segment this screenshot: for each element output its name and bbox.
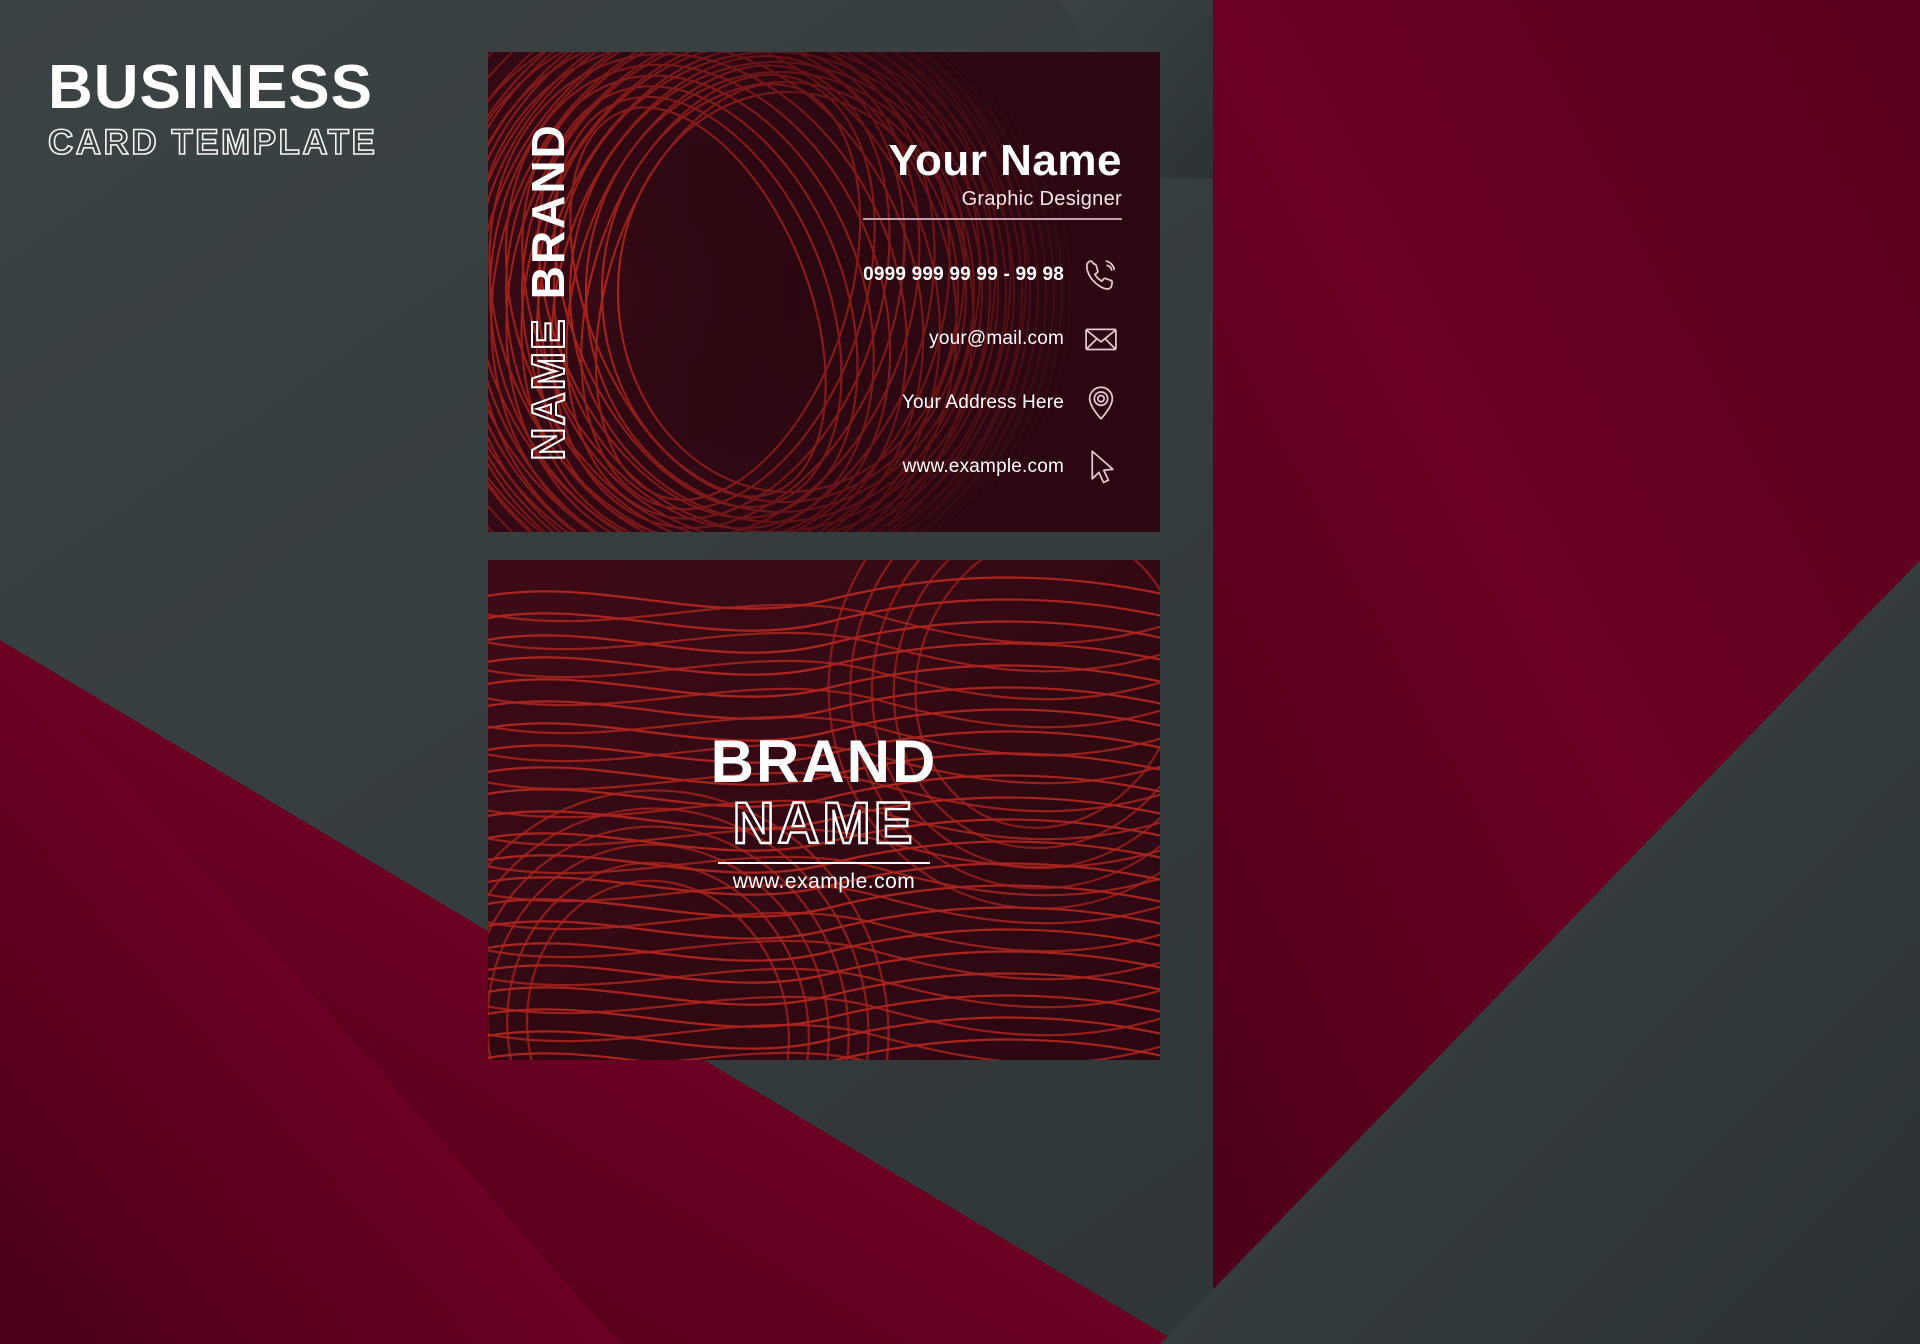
back-logo-block: BRAND NAME www.example.com [488,732,1160,894]
vertical-brand-name-hollow: NAME [521,317,575,460]
contact-row-email[interactable]: your@mail.com [863,318,1122,360]
headline-primary: BUSINESS [48,58,377,119]
contact-name: Your Name [863,138,1122,184]
headline-secondary: CARD TEMPLATE [48,123,377,162]
back-divider-rule [718,862,930,864]
back-brand-hollow: NAME [488,794,1160,855]
contact-phone-text: 0999 999 99 99 - 99 98 [863,264,1064,286]
contact-website-text: www.example.com [903,456,1064,478]
cursor-arrow-icon [1080,446,1122,488]
vertical-brand-name-solid: BRAND [521,123,575,299]
card-front-info: Your Name Graphic Designer 0999 999 99 9… [863,138,1122,488]
contact-row-address[interactable]: Your Address Here [863,382,1122,424]
location-pin-icon [1080,382,1122,424]
business-card-front[interactable]: NAME BRAND Your Name Graphic Designer 09… [488,52,1160,532]
envelope-icon [1080,318,1122,360]
vertical-brand-strip: NAME BRAND [488,52,608,532]
business-card-back[interactable]: BRAND NAME www.example.com [488,560,1160,1060]
contact-role: Graphic Designer [863,188,1122,211]
contact-row-phone[interactable]: 0999 999 99 99 - 99 98 [863,254,1122,296]
contact-row-website[interactable]: www.example.com [863,446,1122,488]
page-title: BUSINESS CARD TEMPLATE [48,58,377,162]
contact-list: 0999 999 99 99 - 99 98 your@mail.com [863,254,1122,488]
phone-icon [1080,254,1122,296]
contact-address-text: Your Address Here [902,392,1064,414]
back-website: www.example.com [488,870,1160,894]
contact-email-text: your@mail.com [929,328,1064,350]
divider-rule [863,218,1122,220]
back-brand-solid: BRAND [488,732,1160,792]
